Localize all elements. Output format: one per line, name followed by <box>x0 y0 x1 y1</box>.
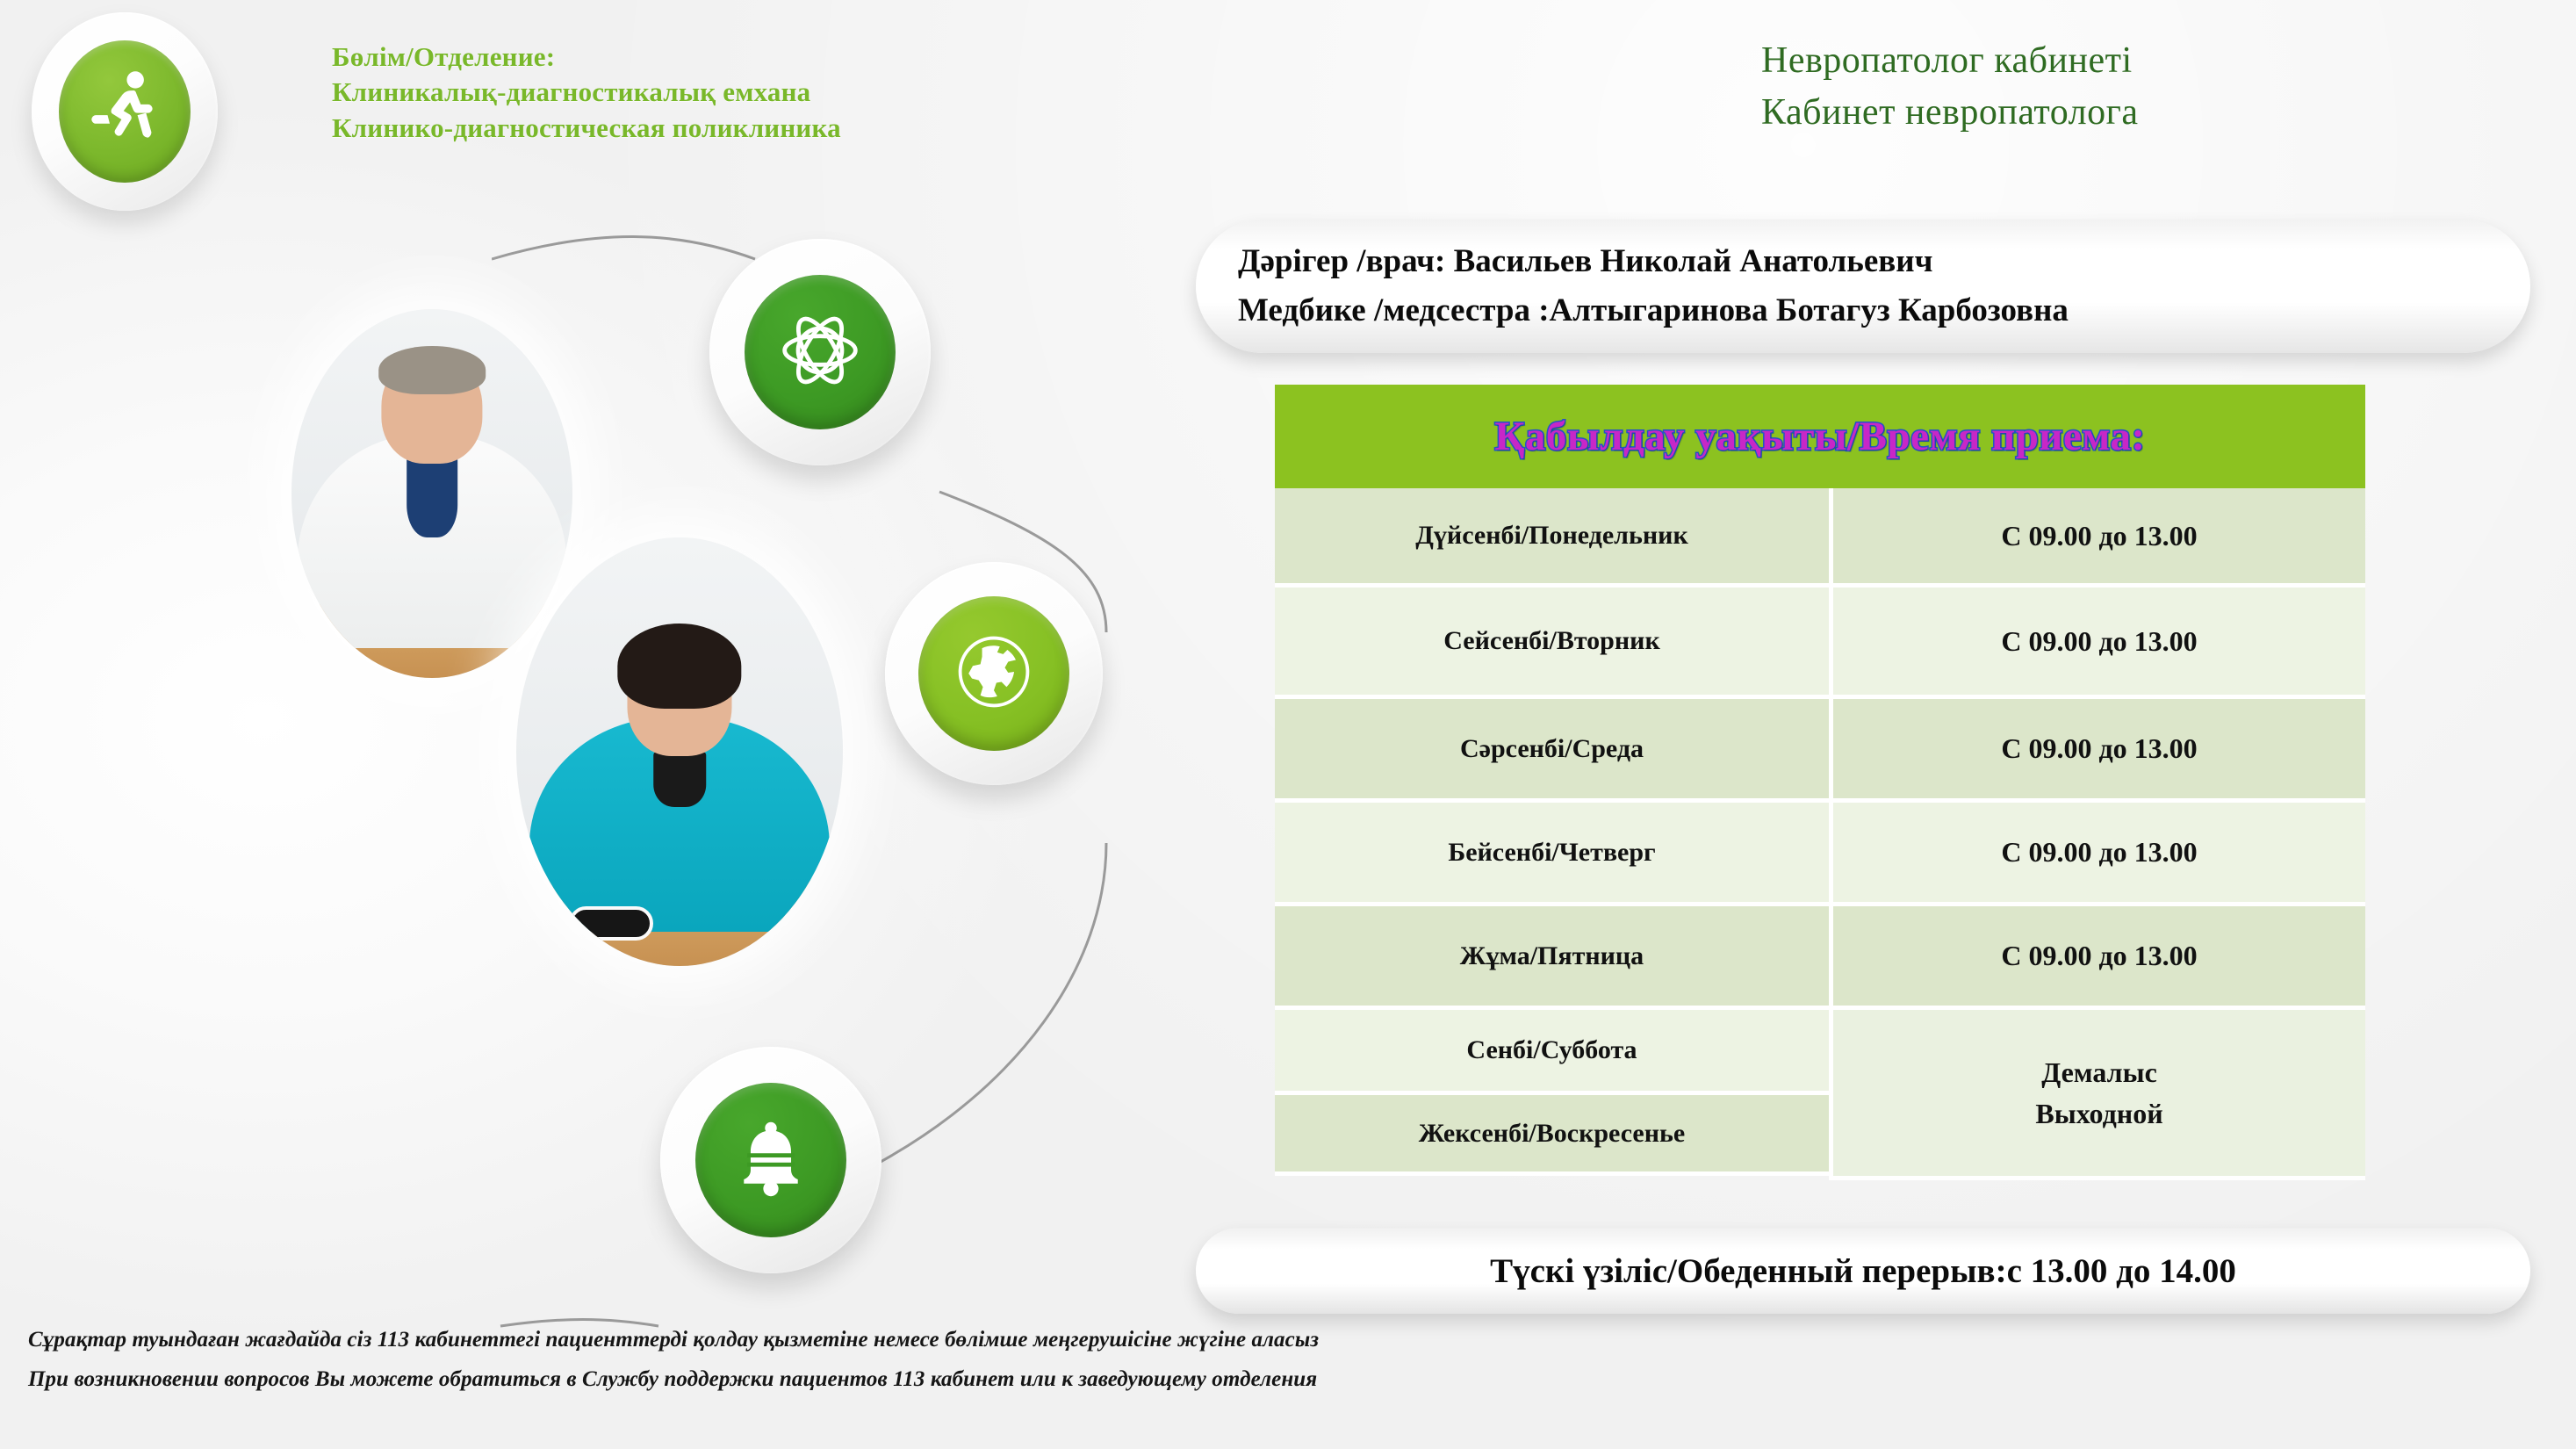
node-bell-inner <box>695 1083 846 1237</box>
nurse-inner-shirt <box>653 752 706 807</box>
node-atom-inner <box>745 275 896 429</box>
weekend-value-cell: Демалыс Выходной <box>1833 1010 2365 1180</box>
footer-line-kk: Сұрақтар туындаған жағдайда сіз 113 каби… <box>28 1321 2135 1360</box>
time-cell: С 09.00 до 13.00 <box>1833 488 2365 588</box>
node-bell <box>660 1047 881 1273</box>
table-row: Жұма/Пятница С 09.00 до 13.00 <box>1275 906 2365 1010</box>
table-row: Бейсенбі/Четверг С 09.00 до 13.00 <box>1275 803 2365 906</box>
table-row: Дүйсенбі/Понедельник С 09.00 до 13.00 <box>1275 488 2365 588</box>
running-person-icon <box>90 70 159 154</box>
department-label: Бөлім/Отделение: <box>332 40 841 75</box>
weekend-day-column: Сенбі/Суббота Жексенбі/Воскресенье <box>1275 1010 1833 1180</box>
logo-inner-circle <box>59 40 191 183</box>
table-row: Сәрсенбі/Среда С 09.00 до 13.00 <box>1275 699 2365 803</box>
weekend-value-kk: Демалыс <box>2035 1052 2162 1092</box>
day-cell-saturday: Сенбі/Суббота <box>1275 1010 1829 1095</box>
staff-info-banner: Дәрігер /врач: Васильев Николай Анатолье… <box>1196 220 2530 353</box>
day-cell: Сәрсенбі/Среда <box>1275 699 1833 803</box>
time-cell: С 09.00 до 13.00 <box>1833 588 2365 699</box>
cabinet-title-ru: Кабинет невропатолога <box>1761 87 2138 139</box>
day-cell: Дүйсенбі/Понедельник <box>1275 488 1833 588</box>
node-atom <box>709 239 931 465</box>
webcam-device <box>569 906 654 941</box>
schedule-title-bar: Қабылдау уақыты/Время приема: <box>1275 385 2365 488</box>
day-cell: Сейсенбі/Вторник <box>1275 588 1833 699</box>
cabinet-title: Невропатолог кабинеті Кабинет невропатол… <box>1761 35 2138 139</box>
nurse-photo <box>516 537 843 966</box>
day-cell: Жұма/Пятница <box>1275 906 1833 1010</box>
doctor-hair <box>378 346 486 394</box>
footer-line-ru: При возникновении вопросов Вы можете обр… <box>28 1360 2135 1400</box>
department-heading: Бөлім/Отделение: Клиникалық-диагностикал… <box>332 40 841 146</box>
day-cell-sunday: Жексенбі/Воскресенье <box>1275 1095 1829 1176</box>
footer-note: Сұрақтар туындаған жағдайда сіз 113 каби… <box>28 1321 2135 1399</box>
department-name-ru: Клинико-диагностическая поликлиника <box>332 111 841 146</box>
nurse-hair <box>617 624 741 710</box>
atom-icon <box>778 308 862 397</box>
node-globe <box>885 562 1103 785</box>
doctor-name-line: Дәрігер /врач: Васильев Николай Анатолье… <box>1238 237 2530 286</box>
department-name-kk: Клиникалық-диагностикалық емхана <box>332 75 841 110</box>
schedule-table: Қабылдау уақыты/Время приема: Дүйсенбі/П… <box>1275 385 2365 1180</box>
day-cell: Бейсенбі/Четверг <box>1275 803 1833 906</box>
time-cell: С 09.00 до 13.00 <box>1833 906 2365 1010</box>
time-cell: С 09.00 до 13.00 <box>1833 803 2365 906</box>
weekend-value-ru: Выходной <box>2035 1093 2162 1134</box>
clinic-logo-badge <box>32 12 218 211</box>
lunch-break-text: Түскі үзіліс/Обеденный перерыв:с 13.00 д… <box>1490 1251 2236 1291</box>
bell-icon <box>729 1116 813 1205</box>
table-row: Сейсенбі/Вторник С 09.00 до 13.00 <box>1275 588 2365 699</box>
time-cell: С 09.00 до 13.00 <box>1833 699 2365 803</box>
lunch-break-banner: Түскі үзіліс/Обеденный перерыв:с 13.00 д… <box>1196 1228 2530 1314</box>
cabinet-title-kk: Невропатолог кабинеті <box>1761 35 2138 87</box>
schedule-title: Қабылдау уақыты/Время приема: <box>1494 413 2145 460</box>
globe-icon <box>952 630 1036 718</box>
weekend-block: Сенбі/Суббота Жексенбі/Воскресенье Демал… <box>1275 1010 2365 1180</box>
doctor-shirt <box>407 457 457 537</box>
nurse-name-line: Медбике /медсестра :Алтыгаринова Ботагуз… <box>1238 286 2530 335</box>
node-globe-inner <box>918 596 1069 751</box>
